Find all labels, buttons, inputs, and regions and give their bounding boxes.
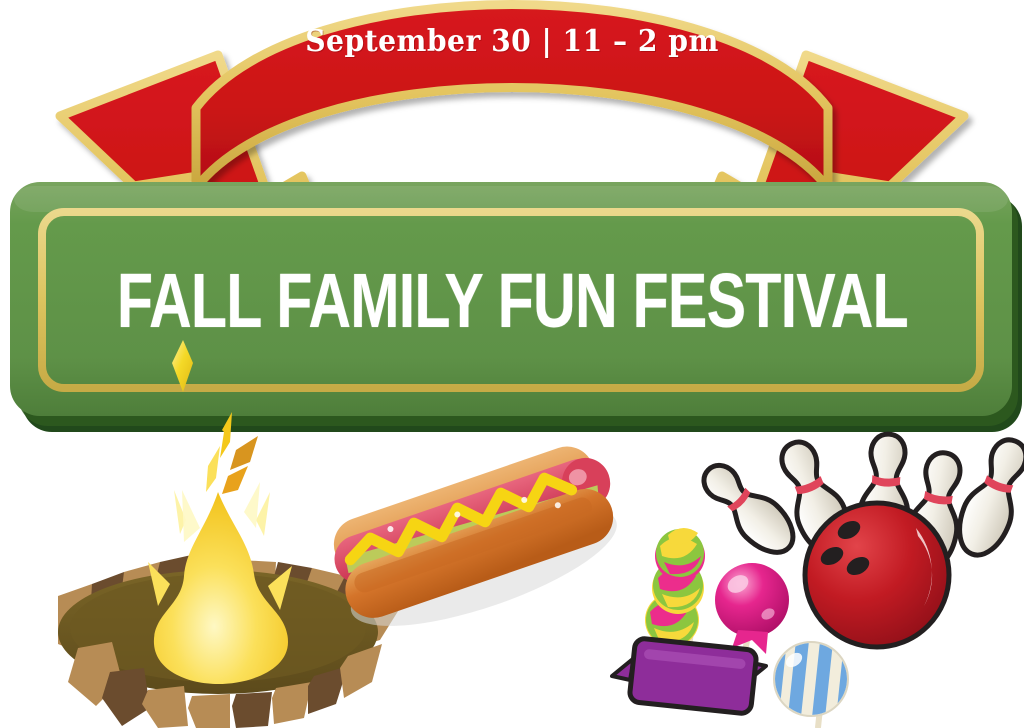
pink-lollipop (715, 563, 789, 654)
candy-body (629, 638, 757, 714)
poster-canvas: September 30 | 11 – 2 pm (0, 0, 1024, 728)
striped-lollipop (768, 636, 854, 724)
wrapped-candy (612, 638, 766, 714)
illustration-row (0, 0, 1024, 728)
campfire-spark (220, 412, 232, 458)
swirl-lollipop (645, 528, 705, 647)
bowling-ball (805, 503, 949, 647)
bowling-pin (949, 432, 1024, 562)
hot-dog-illustration (323, 435, 637, 650)
